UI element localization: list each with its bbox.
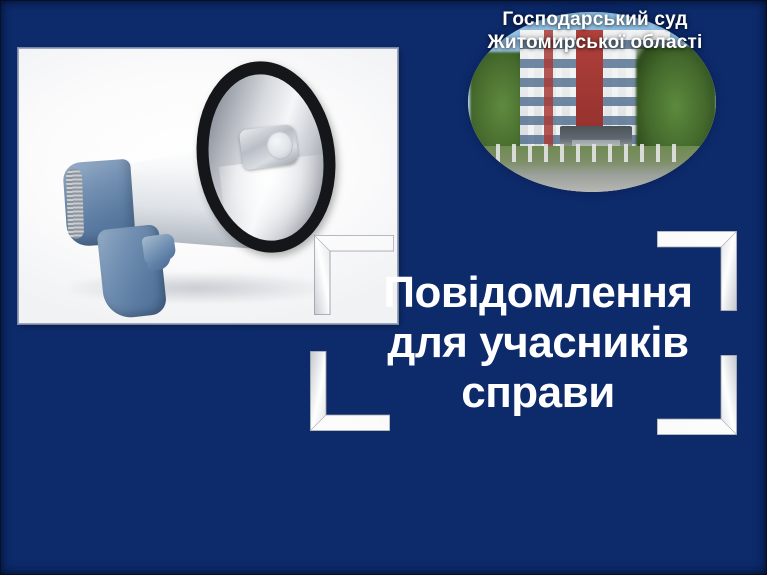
corner-bracket-bottom-right — [654, 352, 740, 438]
megaphone-driver — [239, 124, 299, 171]
corner-bracket-top-left — [311, 232, 397, 318]
court-name-line-1: Господарський суд — [502, 9, 687, 30]
page-title-line-1: Повідомлення — [382, 268, 694, 318]
corner-bracket-top-right — [654, 228, 740, 314]
corner-bracket-bottom-left — [307, 348, 393, 434]
page-title-line-3: справи — [382, 368, 694, 418]
page-title-line-2: для учасників — [382, 318, 694, 368]
court-name-heading: Господарський суд Житомирської області — [430, 8, 760, 54]
fence — [496, 144, 686, 162]
presentation-slide: Господарський суд Житомирської області — [0, 0, 767, 575]
page-title: Повідомлення для учасників справи — [382, 268, 694, 418]
court-name-line-2: Житомирської області — [488, 32, 703, 53]
